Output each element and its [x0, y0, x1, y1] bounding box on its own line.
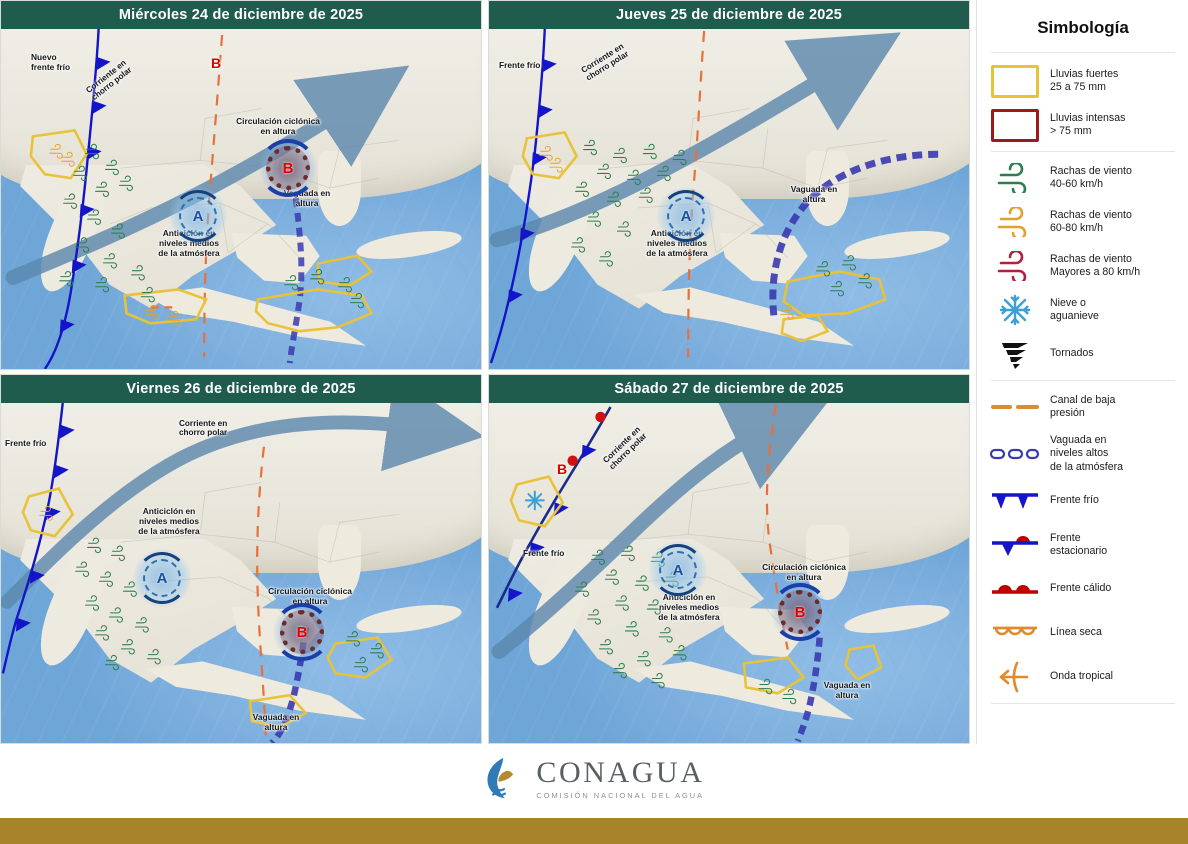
tropical-wave-icon	[989, 660, 1041, 694]
legend-item-label: Frente cálido	[1050, 582, 1111, 595]
panel-header: Sábado 27 de diciembre de 2025	[489, 375, 969, 403]
legend-item-label: Canal de baja presión	[1050, 394, 1115, 421]
legend-item: Canal de baja presión	[977, 385, 1188, 429]
legend-item: Lluvias fuertes 25 a 75 mm	[977, 59, 1188, 103]
upper-trough-icon	[989, 437, 1041, 471]
tornado-icon	[989, 337, 1041, 371]
low-pressure-center: B	[273, 603, 331, 661]
weather-map: Frente frío Corriente en chorro polar An…	[1, 403, 481, 743]
annotation-upper-trough: Vaguada en altura	[785, 185, 843, 205]
panel-title: Sábado 27 de diciembre de 2025	[614, 381, 843, 397]
conagua-wordmark: CONAGUA COMISIÓN NACIONAL DEL AGUA	[536, 758, 704, 800]
annotation-front: Frente frío	[499, 61, 540, 71]
high-pressure-glyph: A	[673, 563, 684, 578]
forecast-panel-thursday: Jueves 25 de diciembre de 2025	[488, 0, 970, 370]
brand-subtitle: COMISIÓN NACIONAL DEL AGUA	[536, 791, 704, 800]
legend-item: Rachas de viento 40-60 km/h	[977, 156, 1188, 200]
low-pressure-center: B	[771, 583, 829, 641]
low-pressure-center: B	[259, 139, 317, 197]
legend-item: Nieve o aguanieve	[977, 288, 1188, 332]
weather-forecast-infographic: Miércoles 24 de diciembre de 2025	[0, 0, 1188, 844]
annotation-upper-trough: Vaguada en altura	[819, 681, 875, 701]
dry-line-icon	[989, 616, 1041, 650]
stationary-front-icon	[989, 528, 1041, 562]
annotation-cyclonic-circulation: Circulación ciclónica en altura	[233, 117, 323, 137]
forecast-panels-grid: Miércoles 24 de diciembre de 2025	[0, 0, 970, 744]
legend-item-label: Línea seca	[1050, 626, 1102, 639]
rain-box-yellow-icon	[989, 64, 1041, 98]
legend-item-label: Rachas de viento 60-80 km/h	[1050, 209, 1132, 236]
wind-gust-orange-icon	[989, 205, 1041, 239]
low-pressure-channel-icon	[989, 390, 1041, 424]
legend-item: Rachas de viento Mayores a 80 km/h	[977, 244, 1188, 288]
annotation-cyclonic-circulation: Circulación ciclónica en altura	[757, 563, 851, 583]
legend-item: Tornados	[977, 332, 1188, 376]
legend-item: Frente frío	[977, 479, 1188, 523]
legend-item: Rachas de viento 60-80 km/h	[977, 200, 1188, 244]
annotation-upper-trough: Vaguada en altura	[247, 713, 305, 733]
panel-title: Miércoles 24 de diciembre de 2025	[119, 7, 363, 23]
panel-title: Jueves 25 de diciembre de 2025	[616, 7, 842, 23]
legend-item: Frente estacionario	[977, 523, 1188, 567]
wind-gust-symbols	[1, 403, 481, 743]
warm-front-icon	[989, 572, 1041, 606]
cold-front-icon	[989, 484, 1041, 518]
conagua-logo-icon	[483, 756, 525, 802]
legend-item-label: Lluvias fuertes 25 a 75 mm	[1050, 68, 1118, 95]
legend-divider	[991, 52, 1175, 53]
high-pressure-center: A	[649, 541, 707, 599]
wind-gust-symbols	[489, 29, 969, 369]
brand-name: CONAGUA	[536, 758, 704, 788]
legend-divider	[991, 703, 1175, 704]
weather-map: Frente frío Corriente en chorro polar An…	[489, 403, 969, 743]
legend-item-label: Frente frío	[1050, 494, 1099, 507]
footer-branding: CONAGUA COMISIÓN NACIONAL DEL AGUA	[0, 744, 1188, 814]
low-pressure-b-marker: B	[557, 461, 567, 477]
forecast-panel-saturday: Sábado 27 de diciembre de 2025	[488, 374, 970, 744]
high-pressure-center: A	[133, 549, 191, 607]
forecast-panel-friday: Viernes 26 de diciembre de 2025	[0, 374, 482, 744]
forecast-panel-wednesday: Miércoles 24 de diciembre de 2025	[0, 0, 482, 370]
bottom-gold-band	[0, 818, 1188, 844]
legend-divider	[991, 380, 1175, 381]
legend-item-label: Nieve o aguanieve	[1050, 297, 1099, 324]
high-pressure-center: A	[657, 187, 715, 245]
annotation-jet-stream: Corriente en chorro polar	[179, 419, 227, 438]
low-pressure-glyph: B	[283, 161, 294, 176]
legend-title: Simbología	[977, 0, 1188, 48]
wind-gust-red-icon	[989, 249, 1041, 283]
high-pressure-glyph: A	[681, 209, 692, 224]
legend-item-label: Vaguada en niveles altos de la atmósfera	[1050, 434, 1123, 474]
wind-gust-green-icon	[989, 161, 1041, 195]
annotation-front: Frente frío	[5, 439, 46, 449]
weather-map: Frente frío Corriente en chorro polar An…	[489, 29, 969, 369]
snowflake-icon	[989, 293, 1041, 327]
wind-gust-symbols	[489, 403, 969, 743]
legend-item-label: Rachas de viento Mayores a 80 km/h	[1050, 253, 1140, 280]
rain-box-darkred-icon	[989, 108, 1041, 142]
annotation-front: Nuevo frente frío	[31, 53, 70, 73]
legend-item-label: Tornados	[1050, 347, 1094, 360]
legend-item: Lluvias intensas > 75 mm	[977, 103, 1188, 147]
legend-item: Vaguada en niveles altos de la atmósfera	[977, 429, 1188, 479]
low-pressure-glyph: B	[795, 605, 806, 620]
panel-title: Viernes 26 de diciembre de 2025	[126, 381, 355, 397]
high-pressure-glyph: A	[193, 209, 204, 224]
weather-map: Nuevo frente frío Corriente en chorro po…	[1, 29, 481, 369]
legend-item: Onda tropical	[977, 655, 1188, 699]
legend-items: Lluvias fuertes 25 a 75 mm Lluvias inten…	[977, 57, 1188, 699]
high-pressure-glyph: A	[157, 571, 168, 586]
panel-header: Jueves 25 de diciembre de 2025	[489, 1, 969, 29]
legend-divider	[991, 151, 1175, 152]
low-pressure-b-marker: B	[211, 55, 221, 71]
legend-item: Frente cálido	[977, 567, 1188, 611]
panel-header: Miércoles 24 de diciembre de 2025	[1, 1, 481, 29]
legend-panel: Simbología Lluvias fuertes 25 a 75 mm Ll…	[976, 0, 1188, 744]
low-pressure-glyph: B	[297, 625, 308, 640]
high-pressure-center: A	[169, 187, 227, 245]
legend-item-label: Lluvias intensas > 75 mm	[1050, 112, 1125, 139]
legend-item-label: Rachas de viento 40-60 km/h	[1050, 165, 1132, 192]
legend-item-label: Frente estacionario	[1050, 532, 1107, 559]
wind-gust-symbols	[1, 29, 481, 369]
annotation-front: Frente frío	[523, 549, 564, 559]
annotation-anticyclone: Anticiclón en niveles medios de la atmós…	[121, 507, 217, 537]
legend-item: Línea seca	[977, 611, 1188, 655]
panel-header: Viernes 26 de diciembre de 2025	[1, 375, 481, 403]
legend-item-label: Onda tropical	[1050, 670, 1113, 683]
